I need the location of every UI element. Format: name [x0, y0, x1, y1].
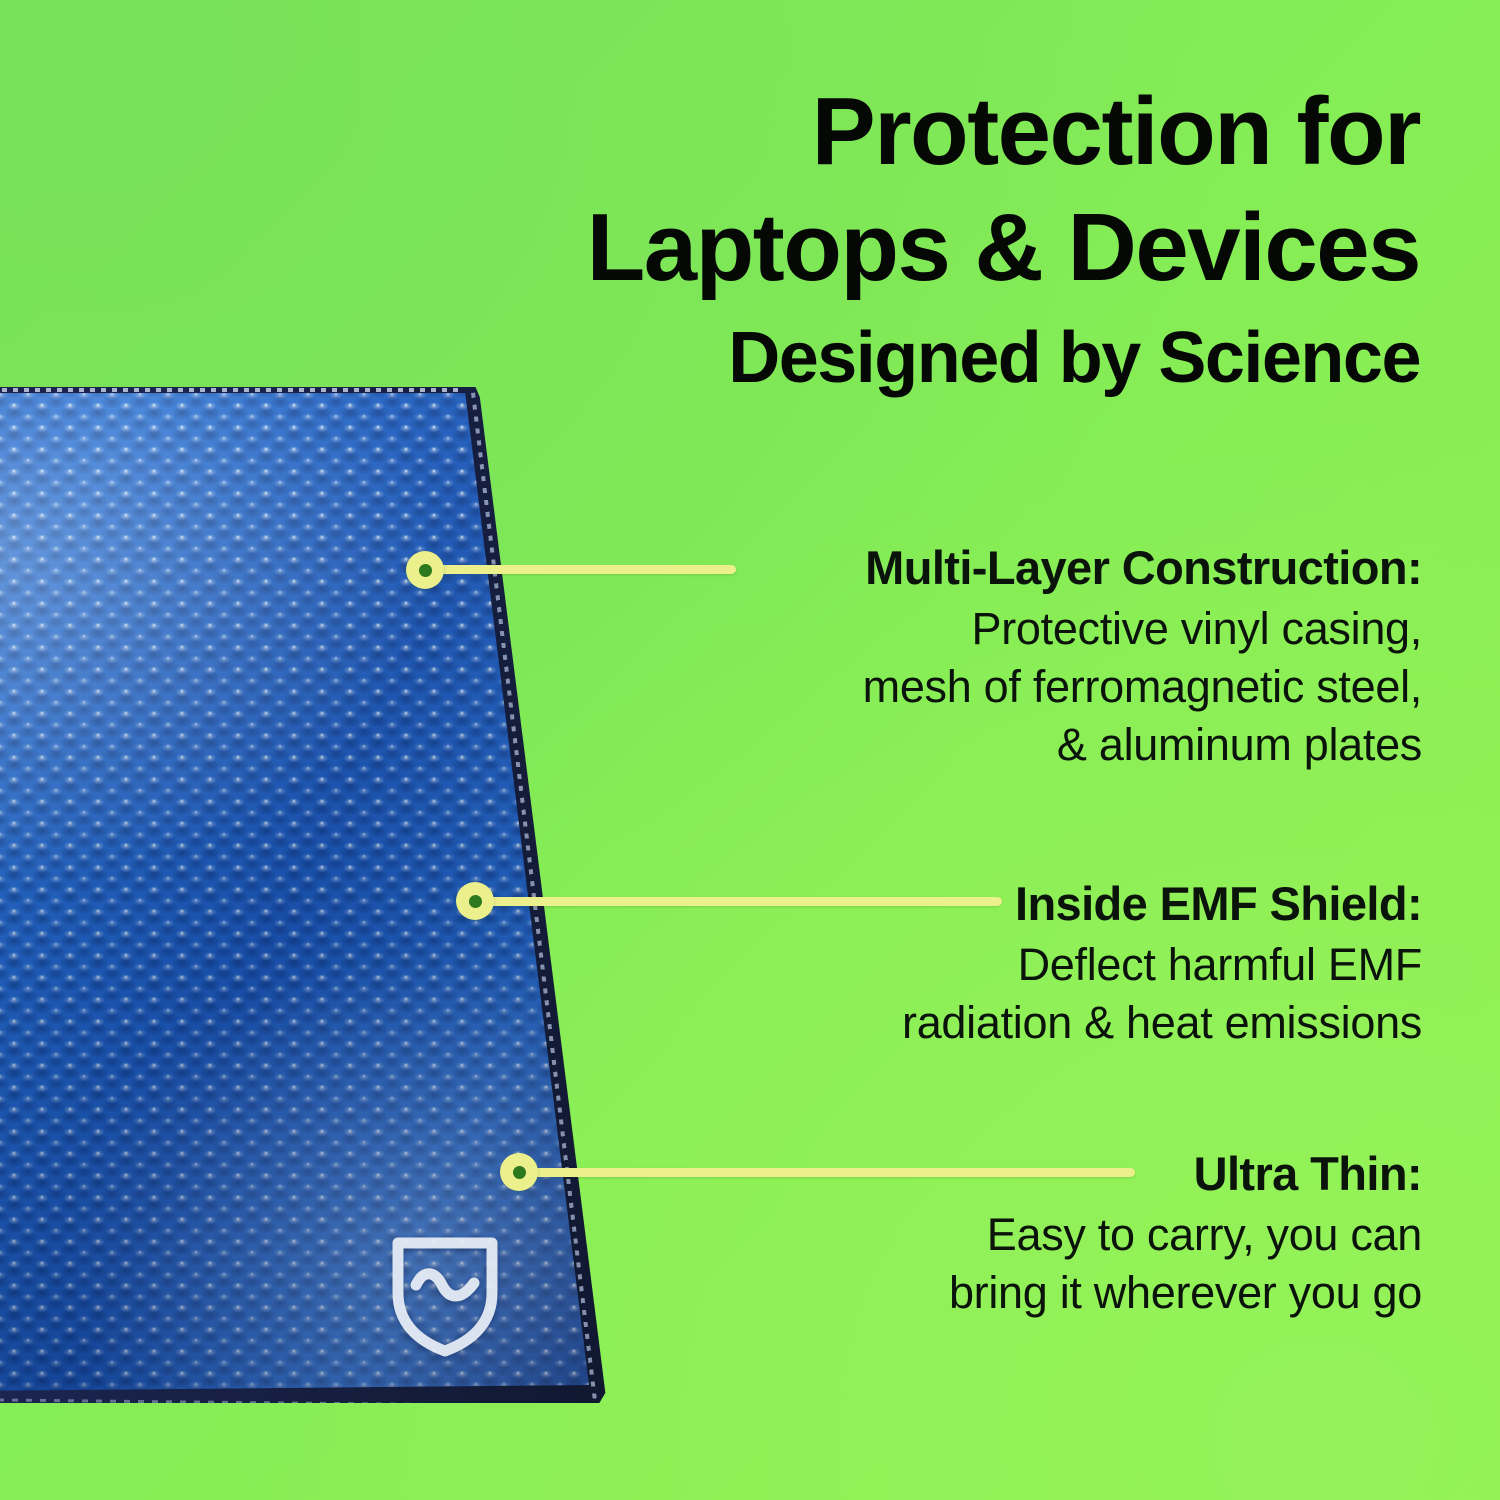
- callout-dot-3: [500, 1153, 538, 1191]
- shield-wave-logo-icon: [390, 1231, 500, 1357]
- callout-dot-2: [456, 882, 494, 920]
- feature-body-line: radiation & heat emissions: [662, 994, 1422, 1052]
- feature-body-line: mesh of ferromagnetic steel,: [662, 658, 1422, 716]
- dimple-highlight-b: [0, 393, 620, 1393]
- product-infographic: Protection for Laptops & Devices Designe…: [0, 0, 1500, 1500]
- page-title: Protection for Laptops & Devices Designe…: [390, 74, 1420, 406]
- feature-body: Easy to carry, you can bring it wherever…: [662, 1206, 1422, 1322]
- feature-body: Deflect harmful EMF radiation & heat emi…: [662, 936, 1422, 1052]
- feature-body: Protective vinyl casing, mesh of ferroma…: [662, 600, 1422, 774]
- feature-body-line: Easy to carry, you can: [662, 1206, 1422, 1264]
- feature-title: Ultra Thin:: [662, 1146, 1422, 1202]
- callout-dot-1: [406, 551, 444, 589]
- feature-title: Inside EMF Shield:: [662, 876, 1422, 932]
- pad-surface: [0, 393, 620, 1393]
- headline-line-1: Protection for: [390, 74, 1420, 190]
- feature-body-line: bring it wherever you go: [662, 1264, 1422, 1322]
- feature-body-line: & aluminum plates: [662, 716, 1422, 774]
- feature-block-multi-layer-construction: Multi-Layer Construction: Protective vin…: [662, 540, 1422, 774]
- feature-block-ultra-thin: Ultra Thin: Easy to carry, you can bring…: [662, 1146, 1422, 1322]
- headline-line-3: Designed by Science: [390, 310, 1420, 406]
- feature-block-inside-emf-shield: Inside EMF Shield: Deflect harmful EMF r…: [662, 876, 1422, 1052]
- headline-line-2: Laptops & Devices: [390, 190, 1420, 306]
- product-image: [0, 387, 620, 1403]
- product-pad: [0, 387, 620, 1403]
- feature-body-line: Deflect harmful EMF: [662, 936, 1422, 994]
- feature-body-line: Protective vinyl casing,: [662, 600, 1422, 658]
- feature-title: Multi-Layer Construction:: [662, 540, 1422, 596]
